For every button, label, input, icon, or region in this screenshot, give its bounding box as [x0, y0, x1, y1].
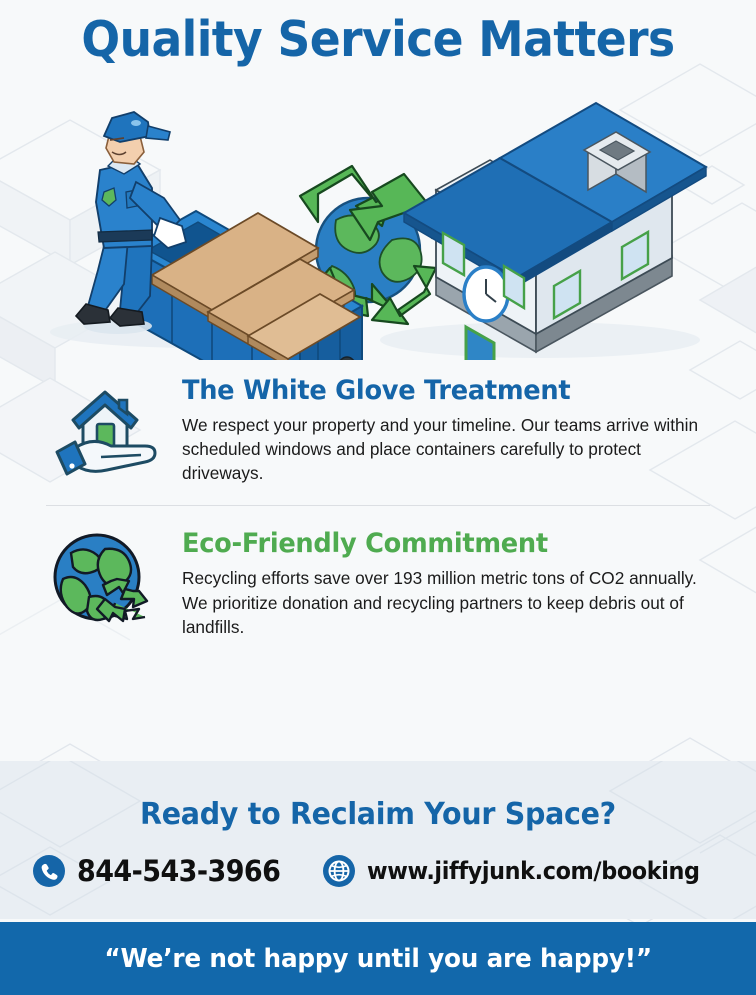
section-divider [46, 505, 710, 506]
feature-eco-friendly: Eco-Friendly Commitment Recycling effort… [24, 508, 732, 652]
infographic-page: Quality Service Matters [0, 0, 756, 995]
cta-contacts: 844-543-3966 www.jiffyjunk.com/booking [0, 854, 756, 888]
feature-white-glove: The White Glove Treatment We respect you… [24, 355, 732, 499]
feature-text: We respect your property and your timeli… [182, 413, 710, 485]
house-graphic [404, 103, 706, 360]
features-section: The White Glove Treatment We respect you… [0, 355, 756, 653]
phone-contact[interactable]: 844-543-3966 [32, 854, 296, 888]
hero-illustration [0, 70, 756, 355]
hero-scene-svg [0, 70, 756, 360]
phone-number: 844-543-3966 [77, 854, 280, 888]
feature-text: Recycling efforts save over 193 million … [182, 566, 710, 638]
feature-body: Eco-Friendly Commitment Recycling effort… [182, 524, 718, 638]
website-contact[interactable]: www.jiffyjunk.com/booking [322, 854, 725, 888]
feature-title: Eco-Friendly Commitment [182, 528, 691, 559]
worker-cap [104, 112, 150, 142]
globe-icon [322, 854, 356, 888]
feature-body: The White Glove Treatment We respect you… [182, 371, 718, 485]
hand-holding-house-icon [46, 371, 164, 481]
cta-inner: Ready to Reclaim Your Space? 844-543-396… [0, 761, 756, 888]
cta-title: Ready to Reclaim Your Space? [19, 797, 737, 832]
feature-title: The White Glove Treatment [182, 375, 691, 406]
page-title: Quality Service Matters [26, 14, 729, 66]
banner-quote: “We’re not happy until you are happy!” [104, 944, 651, 974]
cta-section: Ready to Reclaim Your Space? 844-543-396… [0, 761, 756, 919]
title-section: Quality Service Matters [0, 0, 756, 66]
quote-banner: “We’re not happy until you are happy!” [0, 922, 756, 995]
globe-recycling-icon [46, 524, 164, 634]
phone-icon [32, 854, 66, 888]
website-url: www.jiffyjunk.com/booking [367, 857, 700, 885]
